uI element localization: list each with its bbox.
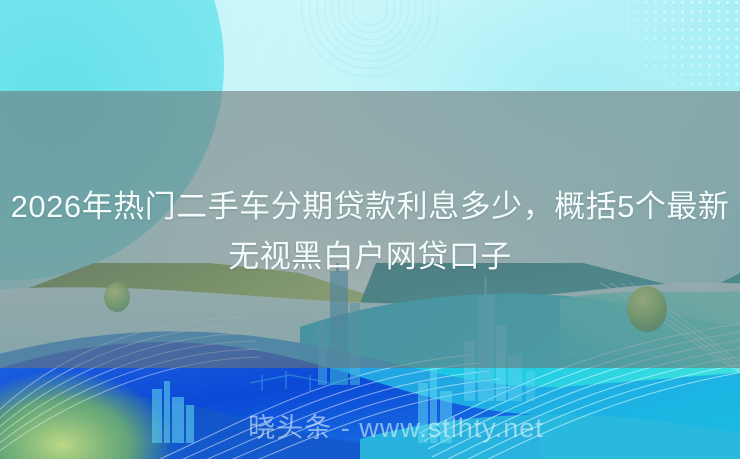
page-title-text: 2026年热门二手车分期贷款利息多少，概括5个最新无视黑白户网贷口子 [11, 189, 730, 274]
site-watermark-text: 晓头条 - www.stlhty.net [248, 413, 544, 443]
page-title: 2026年热门二手车分期贷款利息多少，概括5个最新无视黑白户网贷口子 [0, 182, 740, 282]
promo-banner: 2026年热门二手车分期贷款利息多少，概括5个最新无视黑白户网贷口子 晓头条 -… [0, 0, 740, 459]
ring-swirl-top-center-icon [300, 0, 440, 78]
site-watermark: 晓头条 - www.stlhty.net [0, 415, 740, 442]
